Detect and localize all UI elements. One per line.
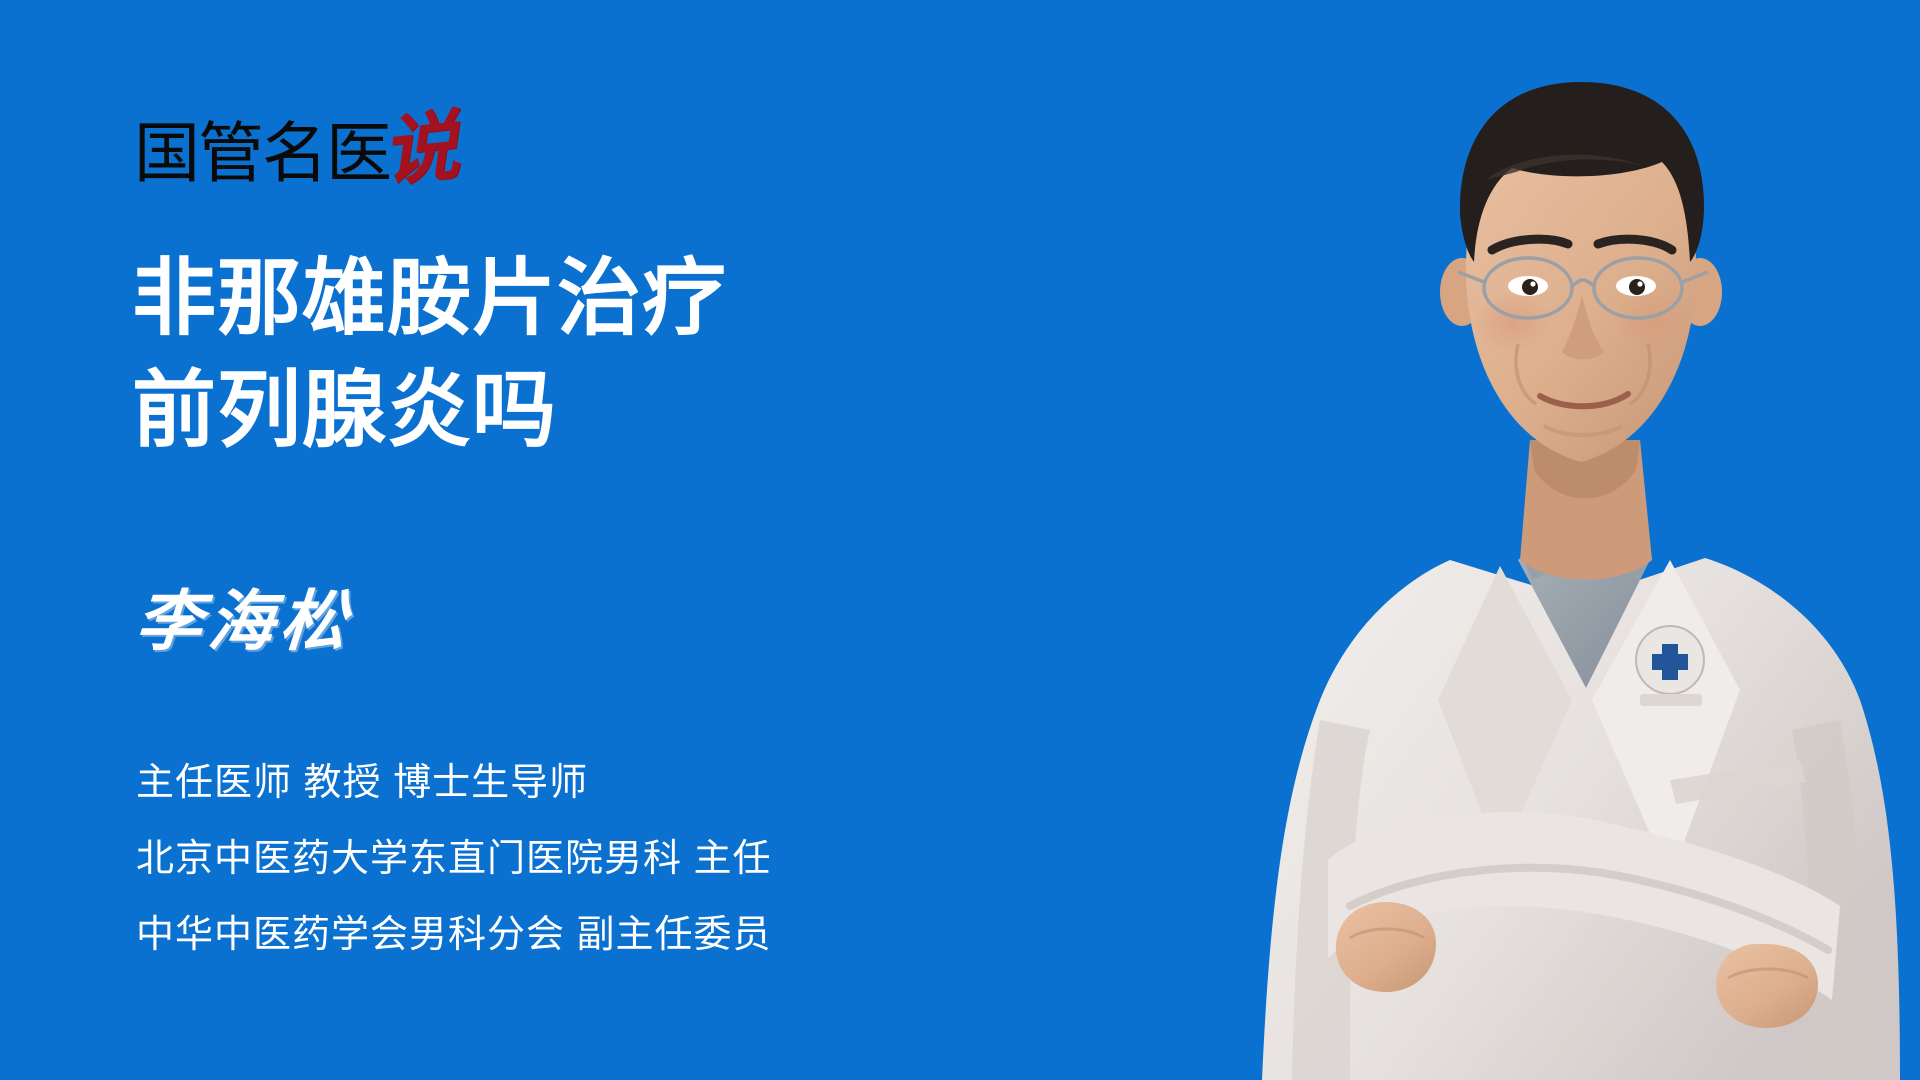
brand-logo: 国管名医 说 <box>134 100 462 186</box>
doctor-portrait-svg <box>1200 0 1920 1080</box>
credential-line-1: 主任医师 教授 博士生导师 <box>136 745 1136 821</box>
hospital-badge <box>1636 626 1704 706</box>
doctor-credentials: 主任医师 教授 博士生导师 北京中医药大学东直门医院男科 主任 中华中医药学会男… <box>136 745 1136 973</box>
video-cover-slide: 国管名医 说 非那雄胺片治疗 前列腺炎吗 李海松 主任医师 教授 博士生导师 北… <box>0 0 1920 1080</box>
credential-line-2: 北京中医药大学东直门医院男科 主任 <box>136 821 1136 897</box>
credential-line-3: 中华中医药学会男科分会 副主任委员 <box>136 897 1136 973</box>
brand-logo-main-text: 国管名医 <box>134 120 390 186</box>
doctor-portrait <box>1200 0 1920 1080</box>
head <box>1440 82 1722 462</box>
doctor-name: 李海松 <box>134 590 355 656</box>
doctor-portrait-image <box>1200 0 1920 1080</box>
brand-logo-accent-text: 说 <box>379 110 462 190</box>
neck <box>1520 440 1652 580</box>
headline: 非那雄胺片治疗 前列腺炎吗 <box>132 243 1032 466</box>
headline-line-2: 前列腺炎吗 <box>132 355 1032 467</box>
headline-line-1: 非那雄胺片治疗 <box>132 243 1032 355</box>
